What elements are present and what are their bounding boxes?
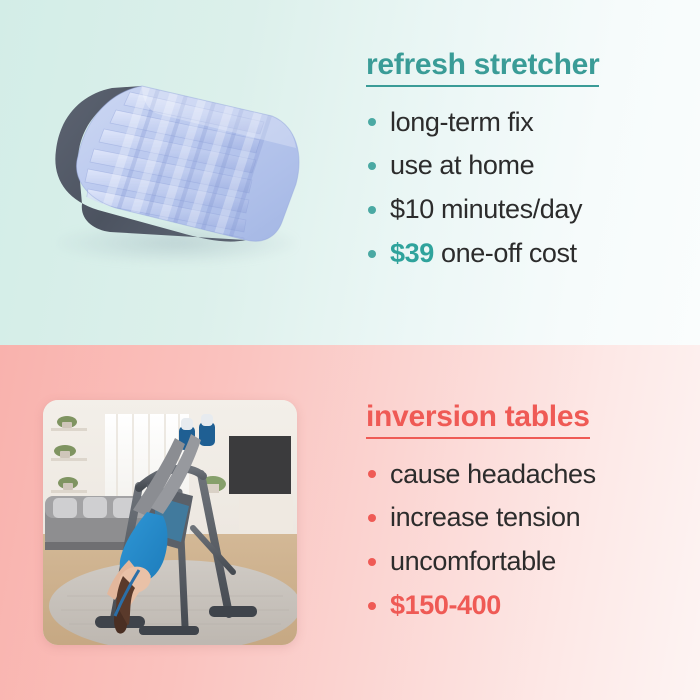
list-item-price: $39 one-off cost bbox=[366, 232, 686, 276]
list-item: long-term fix bbox=[366, 101, 686, 145]
bullet-dot-icon bbox=[368, 558, 376, 566]
inversion-tables-headline: inversion tables bbox=[366, 400, 590, 439]
stretcher-illustration bbox=[38, 72, 313, 262]
comparison-poster: refresh stretcher long-term fix use at h… bbox=[0, 0, 700, 700]
stretcher-text-column: refresh stretcher long-term fix use at h… bbox=[350, 0, 700, 345]
bullet-text: $10 minutes/day bbox=[390, 194, 582, 224]
product-section-inversion-tables: inversion tables cause headaches increas… bbox=[0, 345, 700, 700]
list-item-price: $150-400 bbox=[366, 584, 686, 628]
bullet-dot-icon bbox=[368, 250, 376, 258]
inversion-table-text-column: inversion tables cause headaches increas… bbox=[350, 345, 700, 700]
price-highlight: $150-400 bbox=[390, 590, 501, 620]
bullet-text: cause headaches bbox=[390, 459, 596, 489]
bullet-text: one-off cost bbox=[434, 238, 577, 268]
bullet-dot-icon bbox=[368, 602, 376, 610]
list-item: cause headaches bbox=[366, 453, 686, 497]
inversion-table-media-column bbox=[0, 345, 350, 700]
bullet-dot-icon bbox=[368, 118, 376, 126]
bullet-text: long-term fix bbox=[390, 107, 533, 137]
bullet-dot-icon bbox=[368, 162, 376, 170]
bullet-text: increase tension bbox=[390, 502, 580, 532]
list-item: increase tension bbox=[366, 496, 686, 540]
bullet-text: uncomfortable bbox=[390, 546, 556, 576]
list-item: $10 minutes/day bbox=[366, 188, 686, 232]
inversion-tables-drawbacks-list: cause headaches increase tension uncomfo… bbox=[366, 453, 686, 628]
bullet-dot-icon bbox=[368, 470, 376, 478]
stretcher-media-column bbox=[0, 0, 350, 345]
list-item: use at home bbox=[366, 144, 686, 188]
bullet-text: use at home bbox=[390, 150, 534, 180]
stretcher-product-image bbox=[38, 72, 313, 277]
price-highlight: $39 bbox=[390, 238, 434, 268]
product-section-refresh-stretcher: refresh stretcher long-term fix use at h… bbox=[0, 0, 700, 345]
refresh-stretcher-headline: refresh stretcher bbox=[366, 48, 599, 87]
bullet-dot-icon bbox=[368, 514, 376, 522]
bullet-dot-icon bbox=[368, 206, 376, 214]
refresh-stretcher-benefits-list: long-term fix use at home $10 minutes/da… bbox=[366, 101, 686, 276]
inversion-table-photo bbox=[43, 400, 297, 645]
list-item: uncomfortable bbox=[366, 540, 686, 584]
